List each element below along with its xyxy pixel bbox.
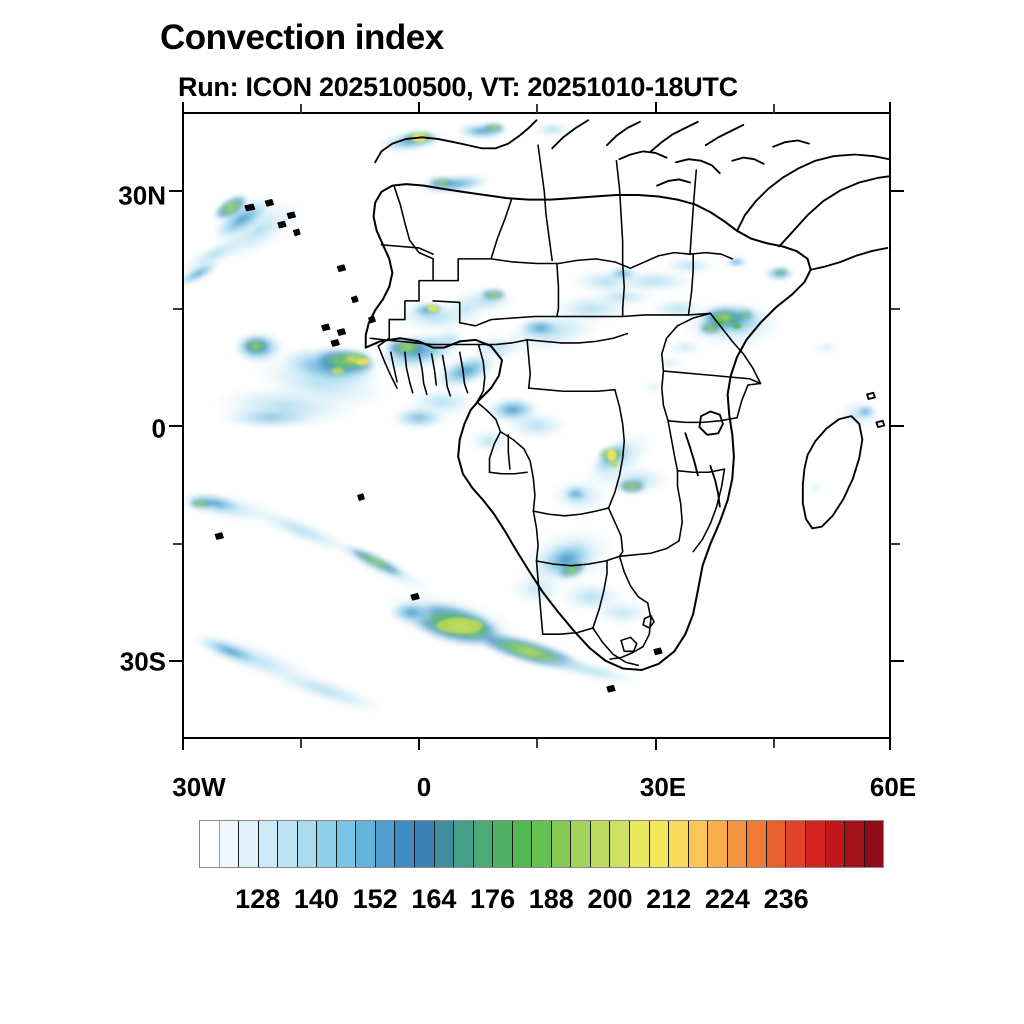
x-tick-15w: [300, 739, 302, 748]
colorbar-cell-19: [571, 821, 591, 867]
colorbar-cell-9: [376, 821, 396, 867]
colorbar-cell-33: [845, 821, 865, 867]
x-tick-top-15e: [536, 104, 538, 113]
map-canvas: [184, 114, 889, 737]
colorbar-cell-17: [532, 821, 552, 867]
colorbar-label-140: 140: [294, 884, 339, 915]
colorbar-cell-15: [493, 821, 513, 867]
x-tick-30w: [182, 739, 184, 750]
colorbar-cell-29: [767, 821, 787, 867]
colorbar-cell-2: [239, 821, 259, 867]
colorbar-cell-8: [356, 821, 376, 867]
colorbar-cell-3: [259, 821, 279, 867]
colorbar-label-236: 236: [764, 884, 809, 915]
colorbar-cell-23: [650, 821, 670, 867]
colorbar-cell-34: [865, 821, 884, 867]
colorbar-cell-27: [728, 821, 748, 867]
x-tick-45e: [773, 739, 775, 748]
x-tick-top-0: [418, 102, 420, 113]
x-tick-top-60e: [889, 102, 891, 113]
y-axis-label-0: 0: [152, 414, 166, 445]
colorbar-cell-4: [278, 821, 298, 867]
page-title: Convection index: [160, 18, 444, 58]
y-tick-30s: [169, 660, 182, 662]
colorbar-label-152: 152: [353, 884, 398, 915]
y-tick-right-30s: [891, 660, 904, 662]
run-validtime-subtitle: Run: ICON 2025100500, VT: 20251010-18UTC: [178, 72, 738, 103]
x-tick-top-45e: [773, 104, 775, 113]
colorbar-cell-22: [630, 821, 650, 867]
colorbar-cell-11: [415, 821, 435, 867]
colorbar-cell-24: [669, 821, 689, 867]
colorbar-tick-labels: 128140152164176188200212224236: [0, 884, 1024, 918]
colorbar-cell-7: [337, 821, 357, 867]
y-axis-label-30s: 30S: [120, 647, 166, 678]
colorbar-cell-21: [610, 821, 630, 867]
colorbar-cell-16: [513, 821, 533, 867]
y-tick-right-30n: [891, 190, 904, 192]
y-axis-label-group: 30N 0 30S: [100, 0, 166, 1024]
x-axis-label-30e: 30E: [640, 772, 686, 803]
x-tick-0: [418, 739, 420, 750]
x-axis-label-60e: 60E: [870, 772, 916, 803]
x-axis-label-0: 0: [417, 772, 431, 803]
colorbar-cell-1: [220, 821, 240, 867]
y-tick-right-15n: [891, 308, 900, 310]
x-tick-15e: [536, 739, 538, 748]
y-tick-right-0: [891, 425, 904, 427]
colorbar-label-200: 200: [587, 884, 632, 915]
colorbar-cell-6: [317, 821, 337, 867]
colorbar-cell-5: [298, 821, 318, 867]
colorbar-cell-0: [200, 821, 220, 867]
y-tick-30n: [169, 190, 182, 192]
y-axis-label-30n: 30N: [118, 181, 166, 212]
convection-index-figure: Convection index Run: ICON 2025100500, V…: [0, 0, 1024, 1024]
y-tick-right-15s: [891, 543, 900, 545]
colorbar-cell-28: [747, 821, 767, 867]
colorbar-cell-31: [806, 821, 826, 867]
colorbar-cell-14: [474, 821, 494, 867]
y-tick-15s: [173, 543, 182, 545]
colorbar-label-176: 176: [470, 884, 515, 915]
colorbar-cell-25: [689, 821, 709, 867]
colorbar[interactable]: [199, 820, 884, 868]
colorbar-label-128: 128: [235, 884, 280, 915]
colorbar-cell-30: [786, 821, 806, 867]
x-tick-top-30e: [655, 102, 657, 113]
colorbar-cell-20: [591, 821, 611, 867]
colorbar-cell-12: [435, 821, 455, 867]
colorbar-cell-10: [395, 821, 415, 867]
colorbar-cell-13: [454, 821, 474, 867]
x-tick-30e: [655, 739, 657, 750]
colorbar-label-164: 164: [411, 884, 456, 915]
y-tick-15n: [173, 308, 182, 310]
colorbar-label-188: 188: [529, 884, 574, 915]
colorbar-cell-26: [708, 821, 728, 867]
x-tick-top-30w: [182, 102, 184, 113]
x-tick-top-15w: [300, 104, 302, 113]
y-tick-0: [169, 425, 182, 427]
colorbar-label-212: 212: [646, 884, 691, 915]
colorbar-cell-18: [552, 821, 572, 867]
colorbar-label-224: 224: [705, 884, 750, 915]
map-plot-area: [182, 112, 891, 739]
x-tick-60e: [889, 739, 891, 750]
colorbar-cell-32: [826, 821, 846, 867]
x-axis-label-30w: 30W: [172, 772, 225, 803]
